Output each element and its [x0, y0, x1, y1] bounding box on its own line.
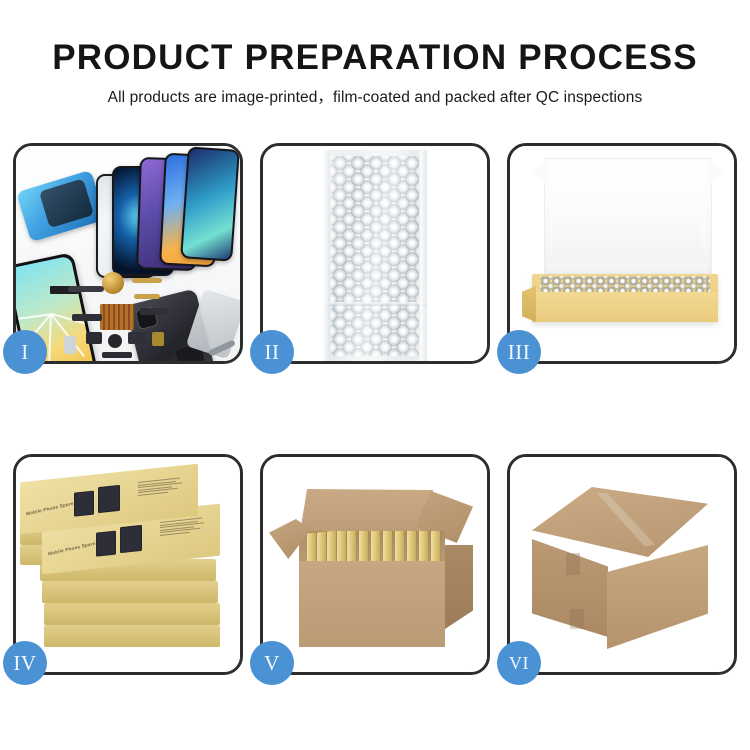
- part-button: [108, 334, 122, 348]
- step-panel-1[interactable]: I: [13, 143, 243, 364]
- part-flex-cable-3: [134, 294, 160, 299]
- wrap-seam: [323, 302, 427, 306]
- carton-flap-seam-top: [566, 553, 580, 575]
- retail-box-stack-item: [42, 581, 218, 603]
- step-panel-6[interactable]: VI: [507, 454, 737, 675]
- part-speaker-module: [102, 272, 124, 294]
- retail-box-stack-item: [44, 625, 220, 647]
- step-panel-2[interactable]: II: [260, 143, 490, 364]
- foam-insert: [552, 204, 702, 272]
- page-title: PRODUCT PREPARATION PROCESS: [0, 0, 750, 78]
- header: PRODUCT PREPARATION PROCESS All products…: [0, 0, 750, 108]
- part-chip-grid: [100, 304, 134, 330]
- bubble-wrap-pouch: [323, 150, 427, 361]
- step-badge-1: I: [3, 330, 47, 374]
- part-battery-connector: [128, 332, 146, 344]
- part-gold-clip: [152, 332, 164, 346]
- box-front-face: [532, 292, 718, 322]
- step-panel-5[interactable]: V: [260, 454, 490, 675]
- step-badge-4: IV: [3, 641, 47, 685]
- step-badge-6: VI: [497, 641, 541, 685]
- carton-front-face: [299, 561, 445, 647]
- part-flex-cable-4: [72, 314, 102, 321]
- step-4-image: Mobile Phone Spare Parts Mobile Phone Sp…: [16, 457, 240, 672]
- part-flex-cable-2: [132, 278, 162, 283]
- part-antenna-strip: [102, 352, 132, 358]
- step-badge-3: III: [497, 330, 541, 374]
- wrap-edge-right: [420, 150, 427, 361]
- step-badge-2: II: [250, 330, 294, 374]
- part-camera-module: [86, 332, 102, 344]
- box-left-face: [522, 286, 536, 322]
- part-sim-tray: [64, 336, 76, 354]
- part-flex-cable-1: [68, 286, 104, 292]
- carton-right-face: [607, 545, 708, 649]
- phone-screen-5: [180, 146, 240, 261]
- step-3-image: [510, 146, 734, 361]
- step-1-image: [16, 146, 240, 361]
- step-5-image: [263, 457, 487, 672]
- carton-right-face: [445, 545, 473, 629]
- step-2-image: [263, 146, 487, 361]
- plastic-gloss: [323, 150, 427, 361]
- part-flex-cable-5: [140, 308, 168, 315]
- kraft-mailer-box: [532, 274, 718, 322]
- carton-flap-seam-bottom: [570, 609, 584, 629]
- page-subtitle: All products are image-printed，film-coat…: [0, 78, 750, 108]
- process-steps-grid: I II: [13, 143, 737, 737]
- step-6-image: [510, 457, 734, 672]
- wrap-edge-left: [323, 150, 330, 361]
- product-preparation-page: PRODUCT PREPARATION PROCESS All products…: [0, 0, 750, 750]
- step-panel-3[interactable]: III: [507, 143, 737, 364]
- step-badge-5: V: [250, 641, 294, 685]
- step-panel-4[interactable]: Mobile Phone Spare Parts Mobile Phone Sp…: [13, 454, 243, 675]
- retail-box-stack-item: [44, 603, 220, 625]
